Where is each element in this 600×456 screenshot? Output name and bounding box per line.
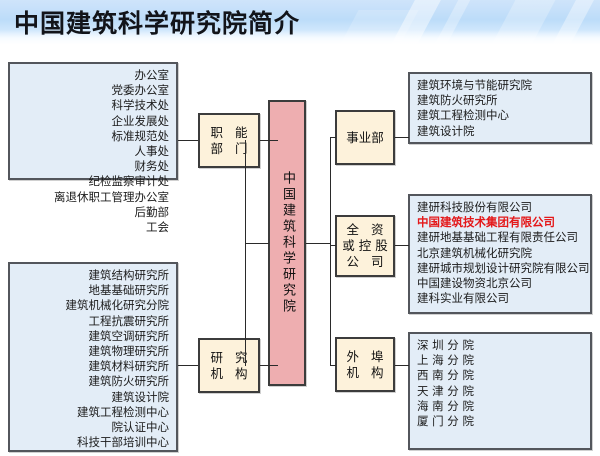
list-item: 企业发展处 xyxy=(17,114,169,129)
node-business-division[interactable]: 事业部 xyxy=(335,110,395,165)
list-item: 北京建筑机械化研究院 xyxy=(417,246,583,261)
functional-departments-list-box: 办公室 党委办公室 科学技术处 企业发展处 标准规范处 人事处 财务处 纪检监察… xyxy=(8,62,178,180)
list-item: 标准规范处 xyxy=(17,129,169,144)
list-item: 建筑环境与节能研究院 xyxy=(417,78,583,93)
list-item: 建筑防火研究所 xyxy=(17,374,169,389)
node-label-line2: 机 构 xyxy=(343,365,388,381)
page-header: 中国建筑科学研究院简介 xyxy=(0,0,600,44)
list-item: 离退休职工管理办公室 xyxy=(17,190,169,205)
connector-line xyxy=(178,365,198,366)
connector-line xyxy=(260,140,278,141)
holding-companies-list: 建研科技股份有限公司 中国建筑技术集团有限公司 建研地基基础工程有限责任公司 北… xyxy=(410,196,590,310)
connector-line xyxy=(260,365,278,366)
list-item: 财务处 xyxy=(17,159,169,174)
page-title: 中国建筑科学研究院简介 xyxy=(14,4,300,40)
list-item: 建筑工程检测中心 xyxy=(417,108,583,123)
connector-line xyxy=(395,365,409,366)
list-item: 科技干部培训中心 xyxy=(17,435,169,450)
holding-companies-list-box: 建研科技股份有限公司 中国建筑技术集团有限公司 建研地基基础工程有限责任公司 北… xyxy=(408,194,592,314)
branch-offices-list: 深 圳 分 院 上 海 分 院 西 南 分 院 天 津 分 院 海 南 分 院 … xyxy=(410,334,590,433)
connector-line xyxy=(245,243,269,244)
node-label-line2: 机 构 xyxy=(207,366,252,382)
list-item: 建研科技股份有限公司 xyxy=(417,200,583,215)
list-item: 院认证中心 xyxy=(17,420,169,435)
connector-line xyxy=(330,365,336,366)
list-item: 建筑结构研究所 xyxy=(17,268,169,283)
list-item: 天 津 分 院 xyxy=(417,384,583,399)
node-functional-departments[interactable]: 职 能 部 门 xyxy=(198,113,260,168)
list-item: 建筑防火研究所 xyxy=(417,93,583,108)
list-item: 中国建设物资北京公司 xyxy=(417,276,583,291)
list-item: 西 南 分 院 xyxy=(417,368,583,383)
list-item-highlighted: 中国建筑技术集团有限公司 xyxy=(417,215,583,230)
research-institutes-list-box: 建筑结构研究所 地基基础研究所 建筑机械化研究分院 工程抗震研究所 建筑空调研究… xyxy=(8,262,178,452)
functional-departments-list: 办公室 党委办公室 科学技术处 企业发展处 标准规范处 人事处 财务处 纪检监察… xyxy=(10,64,176,239)
list-item: 建筑材料研究所 xyxy=(17,359,169,374)
connector-line xyxy=(395,137,409,138)
list-item: 纪检监察审计处 xyxy=(17,174,169,189)
center-organization-label: 中国建筑科学研究院 xyxy=(279,171,295,315)
center-organization-node[interactable]: 中国建筑科学研究院 xyxy=(268,100,306,386)
list-item: 工程抗震研究所 xyxy=(17,314,169,329)
connector-line xyxy=(330,137,331,365)
list-item: 人事处 xyxy=(17,144,169,159)
connector-line xyxy=(330,245,336,246)
list-item: 科学技术处 xyxy=(17,98,169,113)
list-item: 建筑设计院 xyxy=(417,124,583,139)
list-item: 建筑空调研究所 xyxy=(17,329,169,344)
branch-offices-list-box: 深 圳 分 院 上 海 分 院 西 南 分 院 天 津 分 院 海 南 分 院 … xyxy=(408,332,592,450)
connector-line xyxy=(330,137,336,138)
list-item: 地基基础研究所 xyxy=(17,283,169,298)
list-item: 建研城市规划设计研究院有限公司 xyxy=(417,261,583,276)
node-label-line2: 或控股 xyxy=(338,238,392,254)
list-item: 建科实业有限公司 xyxy=(417,291,583,306)
list-item: 建研地基基础工程有限责任公司 xyxy=(417,230,583,245)
list-item: 建筑机械化研究分院 xyxy=(17,298,169,313)
node-label-line1: 事业部 xyxy=(346,130,384,145)
connector-line xyxy=(245,140,246,366)
list-item: 建筑物理研究所 xyxy=(17,344,169,359)
list-item: 海 南 分 院 xyxy=(417,399,583,414)
node-label-line1: 外 埠 xyxy=(343,349,388,365)
list-item: 上 海 分 院 xyxy=(417,353,583,368)
node-research-institutions[interactable]: 研 究 机 构 xyxy=(198,338,260,393)
connector-line xyxy=(178,140,198,141)
list-item: 办公室 xyxy=(17,68,169,83)
node-wholly-owned-holding-companies[interactable]: 全 资 或控股 公 司 xyxy=(335,215,395,277)
list-item: 工会 xyxy=(17,220,169,235)
node-label-line1: 全 资 xyxy=(338,222,392,238)
list-item: 深 圳 分 院 xyxy=(417,338,583,353)
list-item: 党委办公室 xyxy=(17,83,169,98)
list-item: 建筑设计院 xyxy=(17,390,169,405)
node-label-line1: 职 能 xyxy=(207,125,252,141)
node-label-line3: 公 司 xyxy=(338,254,392,270)
business-division-list-box: 建筑环境与节能研究院 建筑防火研究所 建筑工程检测中心 建筑设计院 xyxy=(408,72,592,144)
list-item: 厦 门 分 院 xyxy=(417,414,583,429)
business-division-list: 建筑环境与节能研究院 建筑防火研究所 建筑工程检测中心 建筑设计院 xyxy=(410,74,590,143)
connector-line xyxy=(306,243,330,244)
list-item: 建筑工程检测中心 xyxy=(17,405,169,420)
list-item: 后勤部 xyxy=(17,205,169,220)
header-divider xyxy=(0,44,600,47)
node-branch-institutions[interactable]: 外 埠 机 构 xyxy=(335,337,395,392)
research-institutes-list: 建筑结构研究所 地基基础研究所 建筑机械化研究分院 工程抗震研究所 建筑空调研究… xyxy=(10,264,176,454)
connector-line xyxy=(395,245,409,246)
